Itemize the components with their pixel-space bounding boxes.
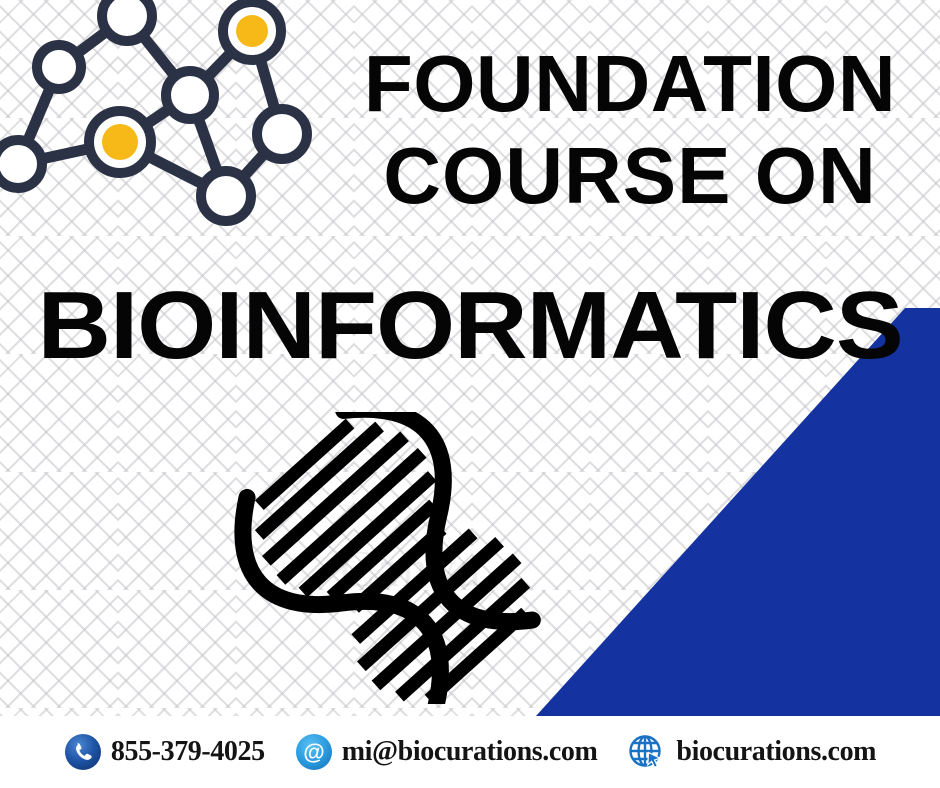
network-node-highlight (236, 15, 268, 47)
email-address: mi@biocurations.com (342, 736, 598, 768)
headline-top-block: FOUNDATION COURSE ON (330, 46, 930, 214)
network-node (102, 0, 152, 41)
network-node (257, 109, 307, 159)
headline-bioinformatics: BIOINFORMATICS (37, 278, 902, 374)
headline-line-2: COURSE ON (330, 138, 930, 214)
network-node (0, 140, 42, 188)
contact-website[interactable]: biocurations.com (627, 733, 876, 771)
headline-main-block: BIOINFORMATICS (0, 278, 940, 374)
network-node (201, 171, 251, 221)
phone-number: 855-379-4025 (111, 736, 265, 768)
contact-bar: 855-379-4025 @ mi@biocurations.com (0, 716, 940, 788)
contact-email[interactable]: @ mi@biocurations.com (295, 733, 598, 771)
poster-canvas: FOUNDATION COURSE ON BIOINFORMATICS Canv… (0, 0, 940, 788)
website-url: biocurations.com (676, 736, 876, 768)
network-node (166, 71, 214, 119)
network-graph-illustration (0, 0, 326, 229)
at-sign-icon: @ (295, 733, 333, 771)
globe-cursor-icon (627, 733, 667, 771)
headline-line-1: FOUNDATION (330, 46, 930, 122)
network-node (37, 45, 81, 89)
phone-icon (64, 733, 102, 771)
dna-double-helix-illustration (232, 412, 547, 704)
network-node-highlight (102, 124, 138, 160)
contact-phone[interactable]: 855-379-4025 (64, 733, 265, 771)
svg-text:@: @ (303, 740, 324, 765)
